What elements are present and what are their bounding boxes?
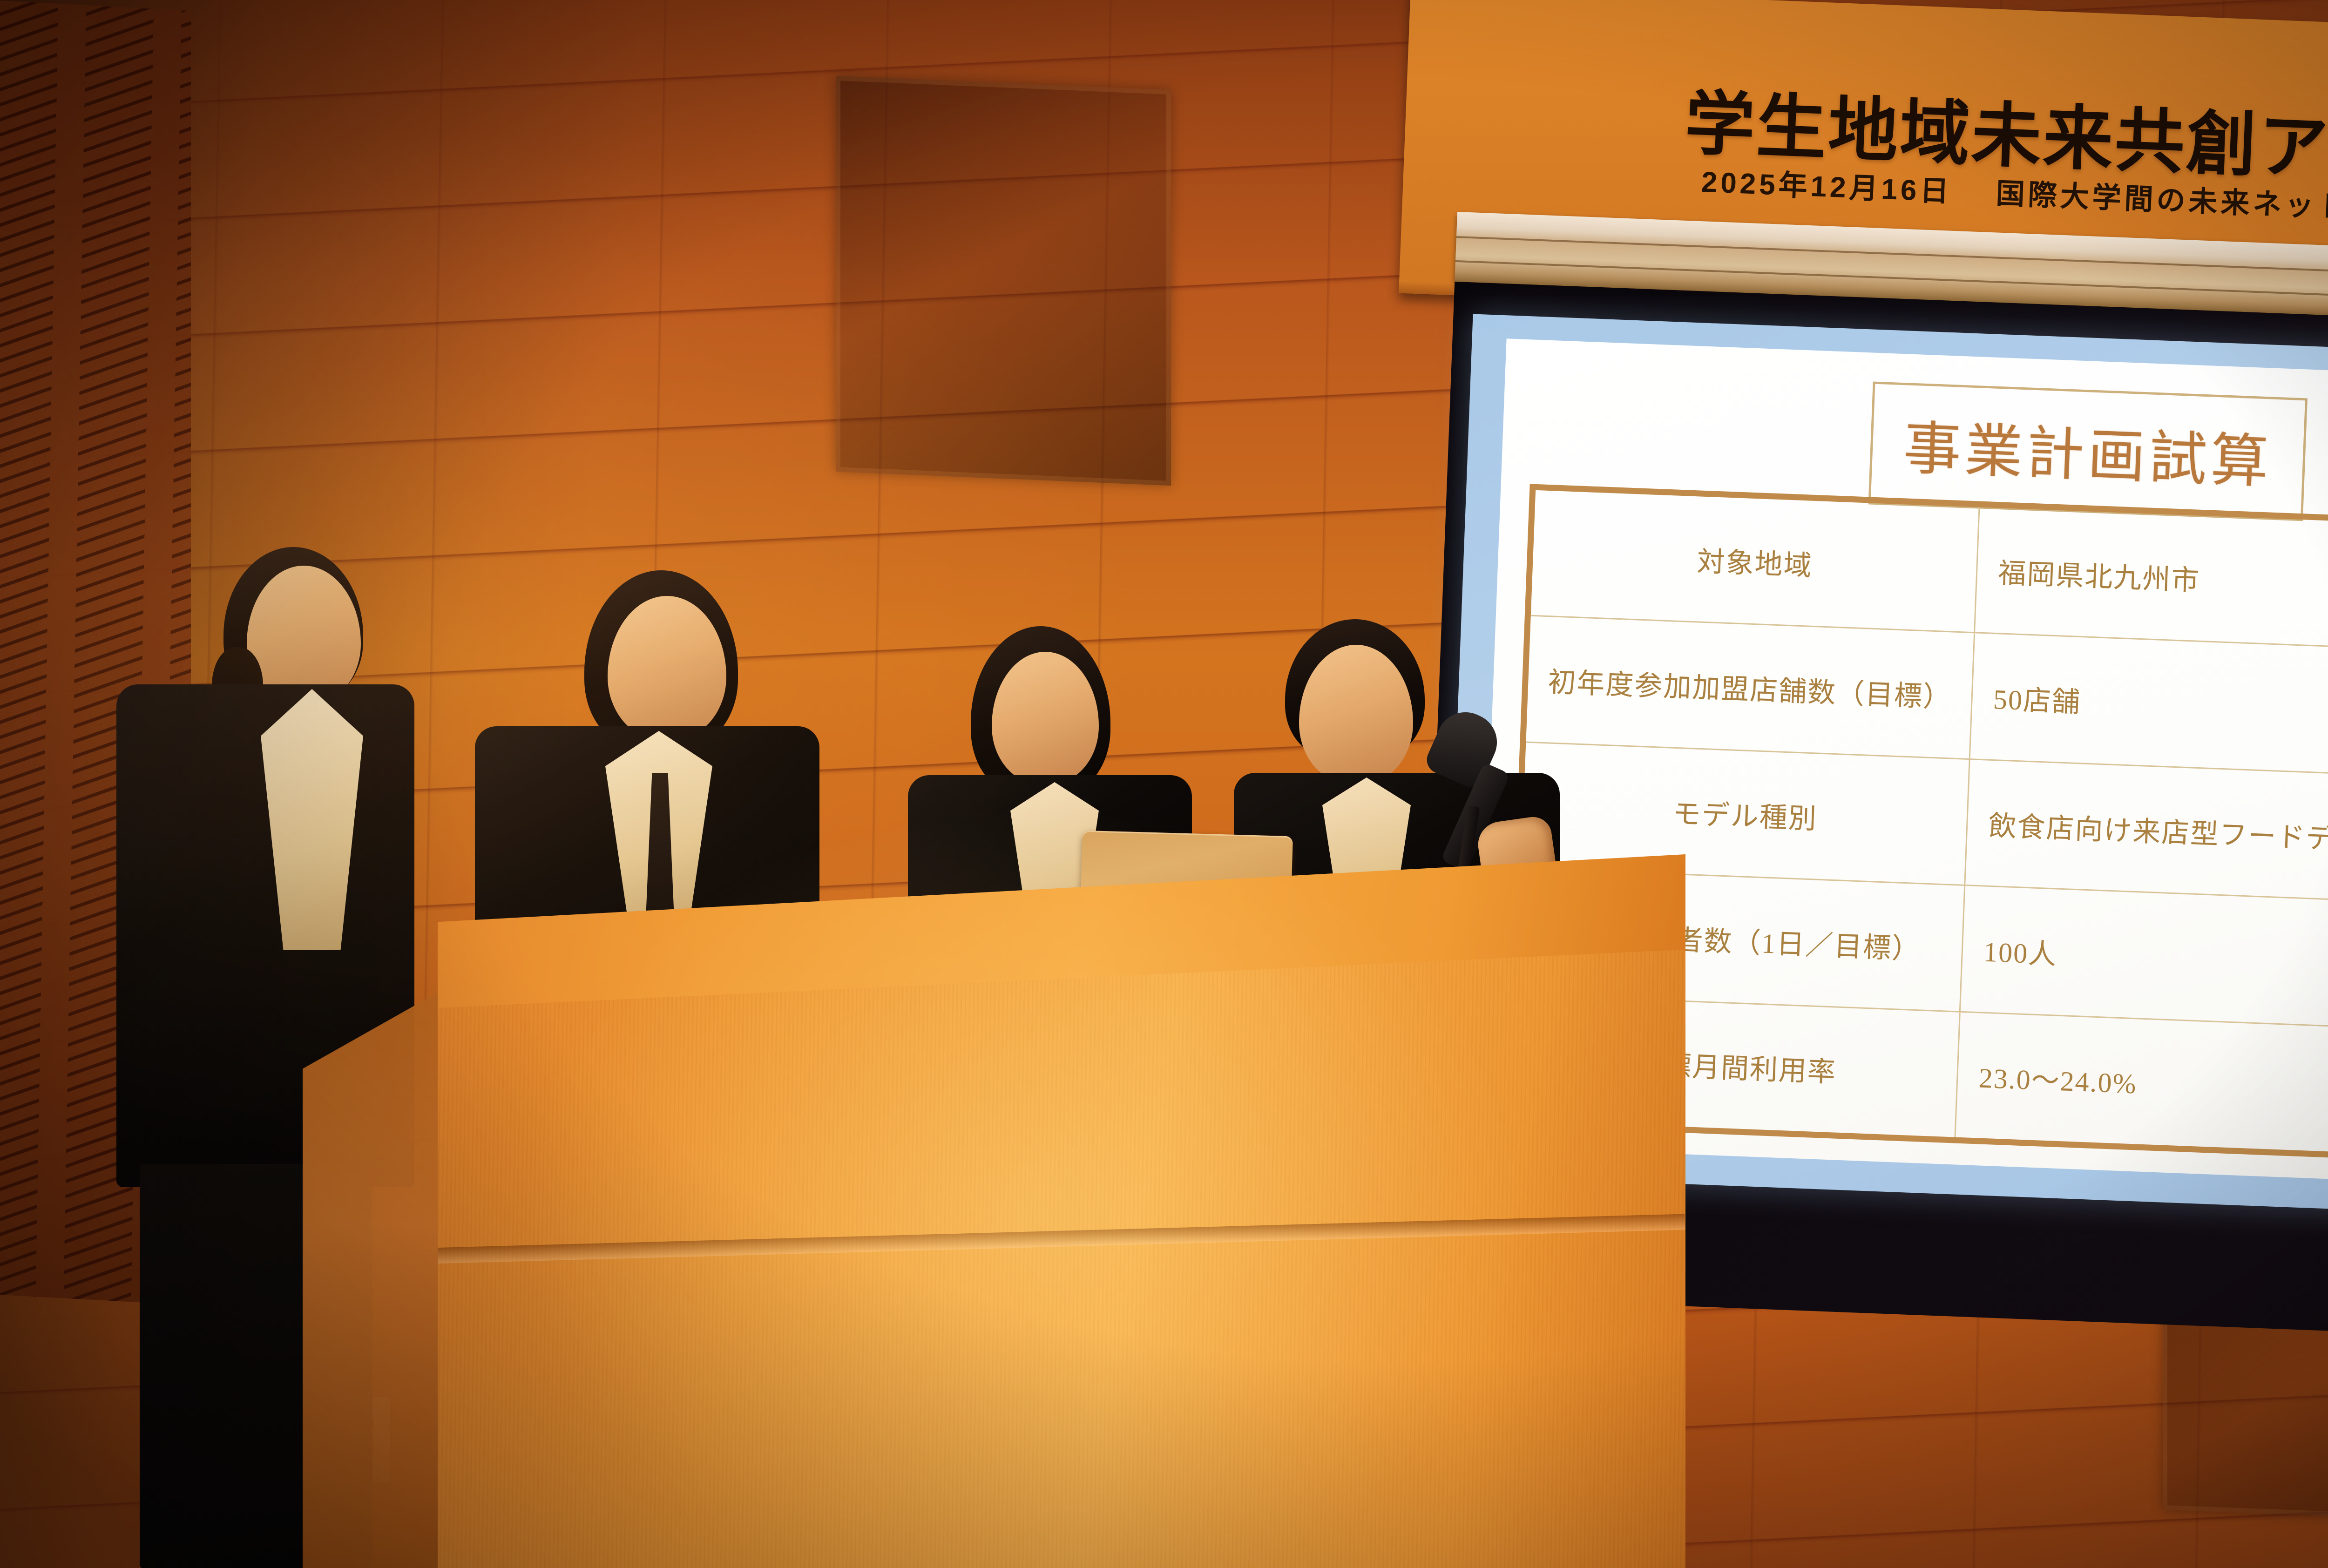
table-cell-value: 100人: [1961, 886, 2328, 1034]
table-cell-key: 対象地域: [1531, 490, 1980, 632]
recessed-wall-panel-upper: [836, 76, 1171, 486]
banner-organizer: 国際大学間の未来ネットワーク（CoIN）: [1995, 178, 2328, 233]
lectern-groove: [438, 1214, 1685, 1264]
table-cell-value: 福岡県北九州市: [1976, 507, 2328, 655]
banner-date: 2025年12月16日: [1701, 166, 1953, 208]
valance-groove-upper: [1456, 236, 2328, 291]
table-cell-key: 初年度参加加盟店舗数（目標）: [1526, 616, 1975, 758]
table-cell-value: 50店舗: [1970, 634, 2328, 781]
lecture-hall-photo: 学生地域未来共創アイデアコンテスト 2025年12月16日 国際大学間の未来ネッ…: [0, 0, 2328, 1568]
lectern: [438, 854, 1685, 1568]
lectern-side-panel: [303, 985, 452, 1568]
lectern-front-panel: [438, 947, 1685, 1568]
table-cell-value: 23.0〜24.0%: [1956, 1012, 2328, 1160]
slide-title: 事業計画試算: [1902, 401, 2274, 499]
table-cell-value: 飲食店向け来店型フードデリバリーアプリ: [1966, 760, 2328, 907]
